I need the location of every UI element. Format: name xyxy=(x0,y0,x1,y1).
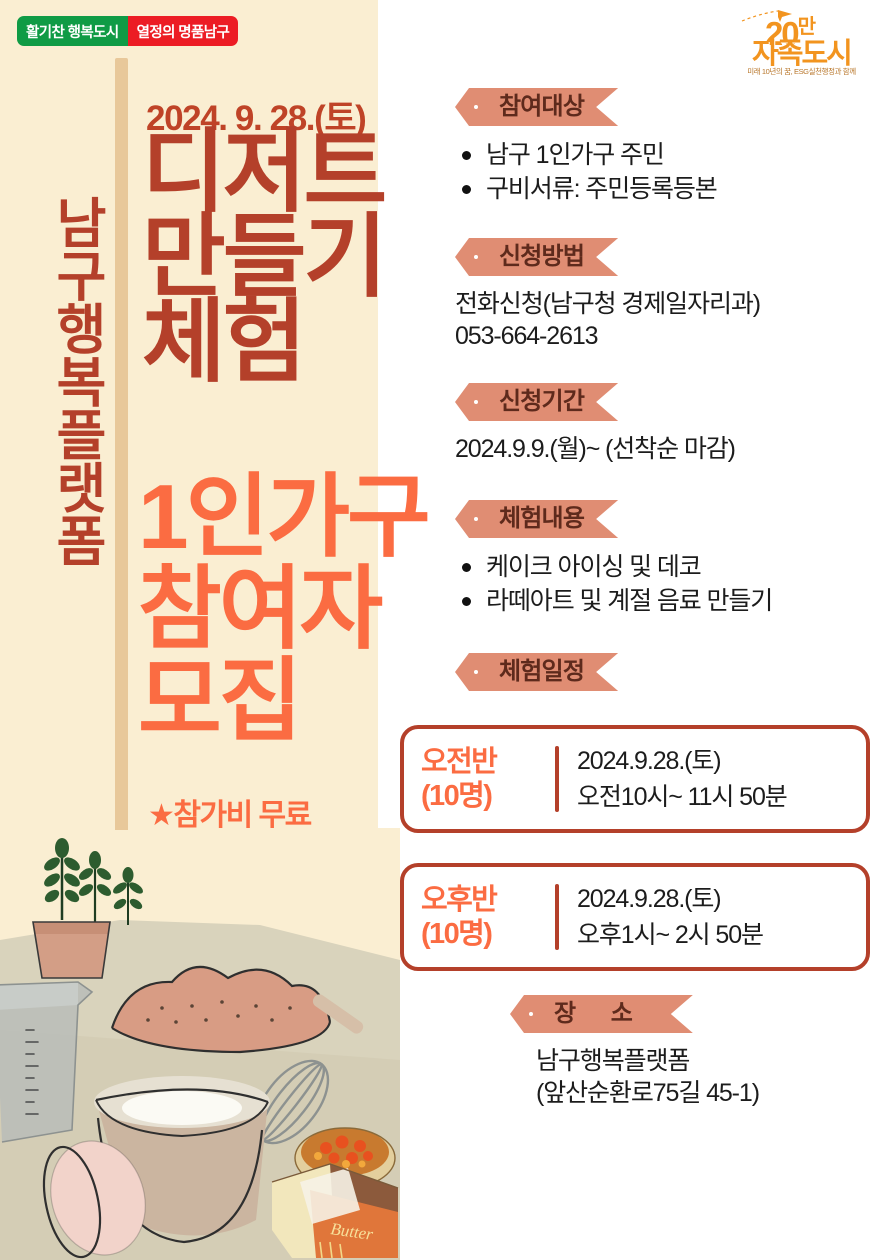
vertical-platform-title: 남구행복플랫폼 xyxy=(34,140,106,620)
list-item: 구비서류: 주민등록등본 xyxy=(455,172,891,206)
section-label-target: 참여대상 xyxy=(455,88,618,126)
schedule-afternoon-date: 2024.9.28.(토) xyxy=(577,881,763,917)
section-schedule: 체험일정 xyxy=(455,653,891,691)
section-label-apply-period: 신청기간 xyxy=(455,383,618,421)
target-bullets: 남구 1인가구 주민 구비서류: 주민등록등본 xyxy=(455,138,891,206)
schedule-morning-name: 오전반 xyxy=(421,745,555,779)
main-title-line-1: 디저트 xyxy=(142,130,472,215)
city-slogan-badge: 활기찬 행복도시 열정의 명품남구 xyxy=(17,16,238,46)
schedule-morning-capacity: (10명) xyxy=(421,779,555,813)
section-label-schedule: 체험일정 xyxy=(455,653,618,691)
info-column: 참여대상 남구 1인가구 주민 구비서류: 주민등록등본 신청방법 전화신청(남… xyxy=(455,0,891,1260)
baking-still-life-svg: Butter xyxy=(0,830,400,1260)
section-label-apply-method: 신청방법 xyxy=(455,238,618,276)
apply-phone[interactable]: 053-664-2613 xyxy=(455,320,891,352)
apply-period-value: 2024.9.9.(월)~ (선착순 마감) xyxy=(455,433,891,465)
schedule-afternoon-time: 오후1시~ 2시 50분 xyxy=(577,917,763,953)
schedule-afternoon-name: 오후반 xyxy=(421,883,555,917)
list-item: 라떼아트 및 계절 음료 만들기 xyxy=(455,584,891,618)
tan-divider-bar xyxy=(115,58,128,836)
schedule-morning-label: 오전반 (10명) xyxy=(404,745,555,813)
schedule-morning-detail: 2024.9.28.(토) 오전10시~ 11시 50분 xyxy=(559,743,787,815)
main-title: 디저트 만들기 체험 xyxy=(142,130,472,385)
section-label-program-content: 체험내용 xyxy=(455,500,618,538)
venue-name: 남구행복플랫폼 xyxy=(536,1045,891,1077)
list-item: 남구 1인가구 주민 xyxy=(455,138,891,172)
section-apply-method: 신청방법 전화신청(남구청 경제일자리과) 053-664-2613 xyxy=(455,238,891,352)
schedule-card-morning: 오전반 (10명) 2024.9.28.(토) 오전10시~ 11시 50분 xyxy=(400,725,870,833)
free-participation-note: ★참가비 무료 xyxy=(148,790,311,834)
schedule-morning-time: 오전10시~ 11시 50분 xyxy=(577,779,787,815)
section-venue: 장 소 남구행복플랫폼 (앞산순환로75길 45-1) xyxy=(455,995,891,1109)
schedule-morning-date: 2024.9.28.(토) xyxy=(577,743,787,779)
baking-illustration: Butter xyxy=(0,830,400,1260)
program-bullets: 케이크 아이싱 및 데코 라떼아트 및 계절 음료 만들기 xyxy=(455,550,891,618)
venue-address: (앞산순환로75길 45-1) xyxy=(536,1077,891,1109)
schedule-afternoon-detail: 2024.9.28.(토) 오후1시~ 2시 50분 xyxy=(559,881,763,953)
poster-canvas: 활기찬 행복도시 열정의 명품남구 20만 자족도시 미래 10년의 꿈, ES… xyxy=(0,0,891,1260)
section-target: 참여대상 남구 1인가구 주민 구비서류: 주민등록등본 xyxy=(455,88,891,206)
schedule-afternoon-capacity: (10명) xyxy=(421,917,555,951)
main-title-line-2: 만들기 xyxy=(142,215,472,300)
sub-title-line-1: 1인가구 xyxy=(138,472,478,564)
apply-method-line-1: 전화신청(남구청 경제일자리과) xyxy=(455,288,891,320)
schedule-card-afternoon: 오후반 (10명) 2024.9.28.(토) 오후1시~ 2시 50분 xyxy=(400,863,870,971)
section-apply-period: 신청기간 2024.9.9.(월)~ (선착순 마감) xyxy=(455,383,891,465)
sub-title-line-2: 참여자 xyxy=(138,564,478,656)
section-program-content: 체험내용 케이크 아이싱 및 데코 라떼아트 및 계절 음료 만들기 xyxy=(455,500,891,618)
sub-title: 1인가구 참여자 모집 xyxy=(138,472,478,748)
slogan-left: 활기찬 행복도시 xyxy=(17,16,128,46)
section-label-venue: 장 소 xyxy=(510,995,693,1033)
slogan-right: 열정의 명품남구 xyxy=(128,16,239,46)
main-title-line-3: 체험 xyxy=(142,300,472,385)
list-item: 케이크 아이싱 및 데코 xyxy=(455,550,891,584)
schedule-afternoon-label: 오후반 (10명) xyxy=(404,883,555,951)
